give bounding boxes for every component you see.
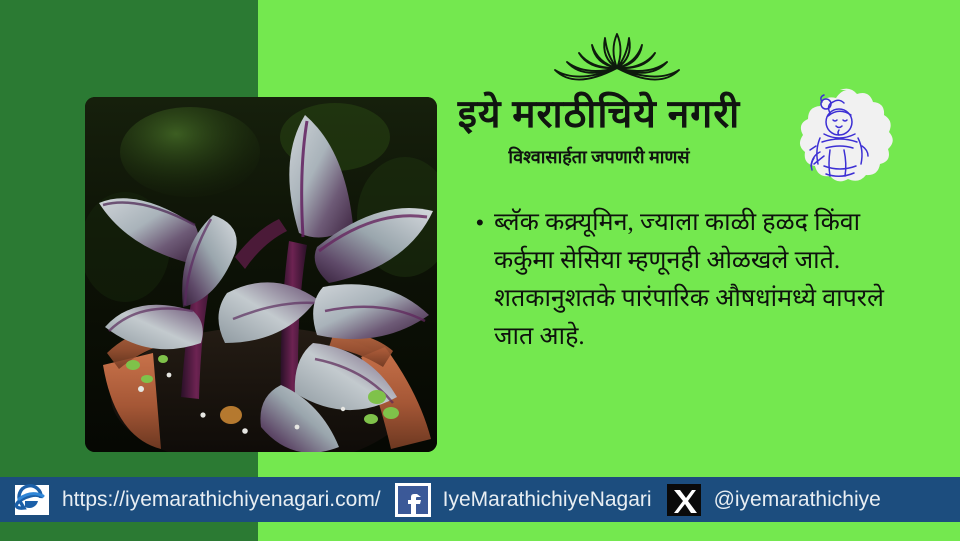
lotus-flower-icon xyxy=(537,22,697,94)
website-link[interactable]: https://iyemarathichiyenagari.com/ xyxy=(0,477,381,522)
slide-canvas: इये मराठीचिये नगरी विश्वासार्हता जपणारी … xyxy=(0,0,960,541)
bullet-marker: • xyxy=(472,204,494,242)
black-turmeric-plant-photo xyxy=(85,97,437,452)
social-footer-bar: https://iyemarathichiyenagari.com/ IyeMa… xyxy=(0,477,960,522)
facebook-icon xyxy=(395,482,431,518)
content-body: • ब्लॅक कक्र्यूमिन, ज्याला काळी हळद किंव… xyxy=(472,204,902,356)
page-tagline: विश्वासार्हता जपणारी माणसं xyxy=(404,145,794,169)
website-url-label: https://iyemarathichiyenagari.com/ xyxy=(62,488,381,512)
internet-explorer-icon xyxy=(14,482,50,518)
krishna-illustration-icon xyxy=(786,86,894,194)
x-twitter-icon xyxy=(666,482,702,518)
page-title: इये मराठीचिये नगरी xyxy=(404,92,794,138)
list-item: • ब्लॅक कक्र्यूमिन, ज्याला काळी हळद किंव… xyxy=(472,204,902,356)
facebook-handle-label: IyeMarathichiyeNagari xyxy=(443,488,652,512)
facebook-link[interactable]: IyeMarathichiyeNagari xyxy=(381,477,652,522)
x-handle-label: @iyemarathichiye xyxy=(714,488,881,512)
x-twitter-link[interactable]: @iyemarathichiye xyxy=(652,477,881,522)
bullet-paragraph: ब्लॅक कक्र्यूमिन, ज्याला काळी हळद किंवा … xyxy=(494,204,902,356)
